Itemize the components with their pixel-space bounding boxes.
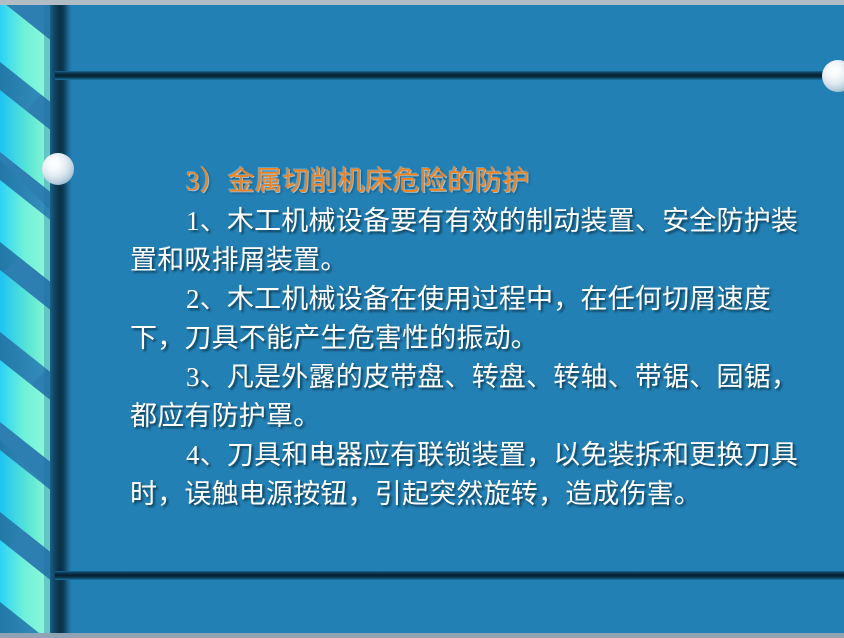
body-paragraph-3: 3、凡是外露的皮带盘、转盘、转轴、带锯、园锯，都应有防护罩。 <box>130 358 820 436</box>
body-paragraph-1: 1、木工机械设备要有有效的制动装置、安全防护装置和吸排屑装置。 <box>130 202 820 280</box>
left-bevel-column <box>50 0 72 638</box>
body-paragraph-4: 4、刀具和电器应有联锁装置，以免装拆和更换刀具时，误触电源按钮，引起突然旋转，造… <box>130 436 820 514</box>
slide-heading: 3）金属切削机床危险的防护 <box>130 162 820 200</box>
top-edge-strip <box>0 0 844 5</box>
bottom-edge-strip <box>0 633 844 638</box>
top-divider <box>55 71 844 80</box>
body-paragraph-2: 2、木工机械设备在使用过程中，在任何切屑速度下，刀具不能产生危害性的振动。 <box>130 280 820 358</box>
slide-canvas: 3）金属切削机床危险的防护 1、木工机械设备要有有效的制动装置、安全防护装置和吸… <box>0 0 844 638</box>
slide-content: 3）金属切削机床危险的防护 1、木工机械设备要有有效的制动装置、安全防护装置和吸… <box>72 84 832 564</box>
bottom-divider <box>55 571 844 580</box>
left-sphere-node <box>42 153 74 185</box>
